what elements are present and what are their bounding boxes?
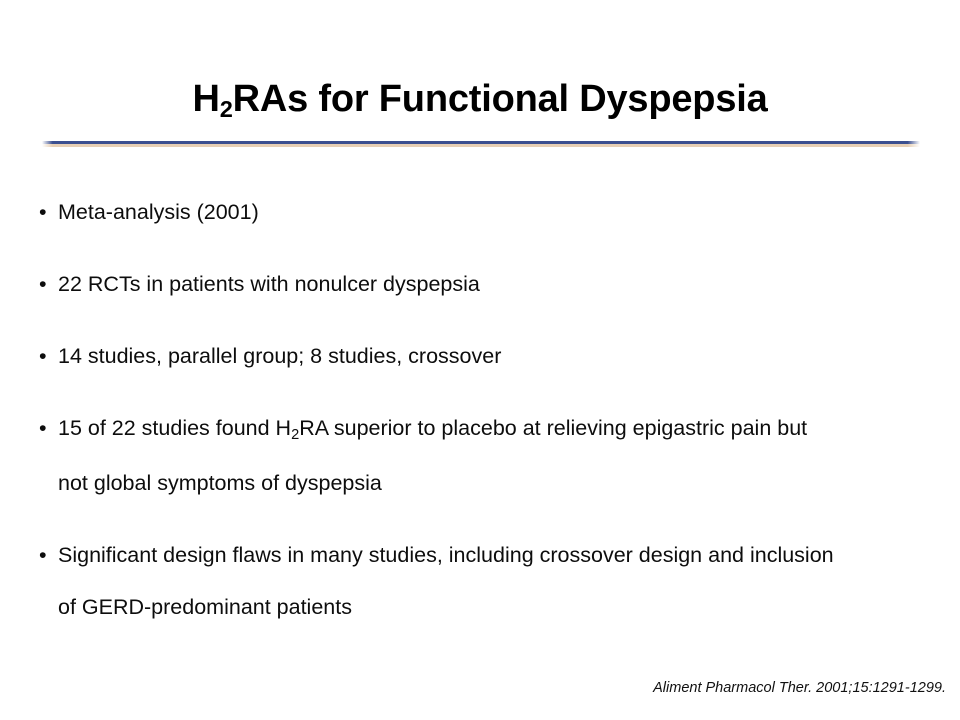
title-subscript: 2 — [220, 96, 233, 122]
bullet-line: Significant design flaws in many studies… — [58, 529, 946, 581]
list-item: • Meta-analysis (2001) — [34, 186, 946, 238]
page-title: H2RAs for Functional Dyspepsia — [0, 76, 960, 126]
bullet-dot-icon: • — [39, 529, 47, 581]
list-item: • 22 RCTs in patients with nonulcer dysp… — [34, 258, 946, 310]
bullet-dot-icon: • — [39, 402, 47, 454]
bullet-line: 15 of 22 studies found H2RA superior to … — [58, 402, 946, 457]
bullet-line-pre: 15 of 22 studies found H — [58, 416, 291, 440]
list-item: • 15 of 22 studies found H2RA superior t… — [34, 402, 946, 509]
divider-line-tan — [42, 144, 920, 147]
title-suffix: RAs for Functional Dyspepsia — [233, 78, 768, 120]
list-item: • 14 studies, parallel group; 8 studies,… — [34, 330, 946, 382]
title-divider — [42, 141, 920, 149]
bullet-line: 14 studies, parallel group; 8 studies, c… — [58, 330, 946, 382]
source-citation: Aliment Pharmacol Ther. 2001;15:1291-129… — [653, 678, 946, 698]
bullet-line-wrapped: of GERD-predominant patients — [58, 581, 946, 633]
bullet-dot-icon: • — [39, 330, 47, 382]
bullet-line: 22 RCTs in patients with nonulcer dyspep… — [58, 258, 946, 310]
list-item: • Significant design flaws in many studi… — [34, 529, 946, 633]
bullet-dot-icon: • — [39, 258, 47, 310]
bullet-list: • Meta-analysis (2001) • 22 RCTs in pati… — [34, 186, 946, 633]
bullet-line: Meta-analysis (2001) — [58, 186, 946, 238]
bullet-dot-icon: • — [39, 186, 47, 238]
bullet-subscript: 2 — [291, 427, 299, 443]
title-prefix: H — [192, 78, 219, 120]
bullet-line-post: RA superior to placebo at relieving epig… — [299, 416, 807, 440]
bullet-line-wrapped: not global symptoms of dyspepsia — [58, 457, 946, 509]
presentation-slide: H2RAs for Functional Dyspepsia • Meta-an… — [0, 0, 960, 720]
